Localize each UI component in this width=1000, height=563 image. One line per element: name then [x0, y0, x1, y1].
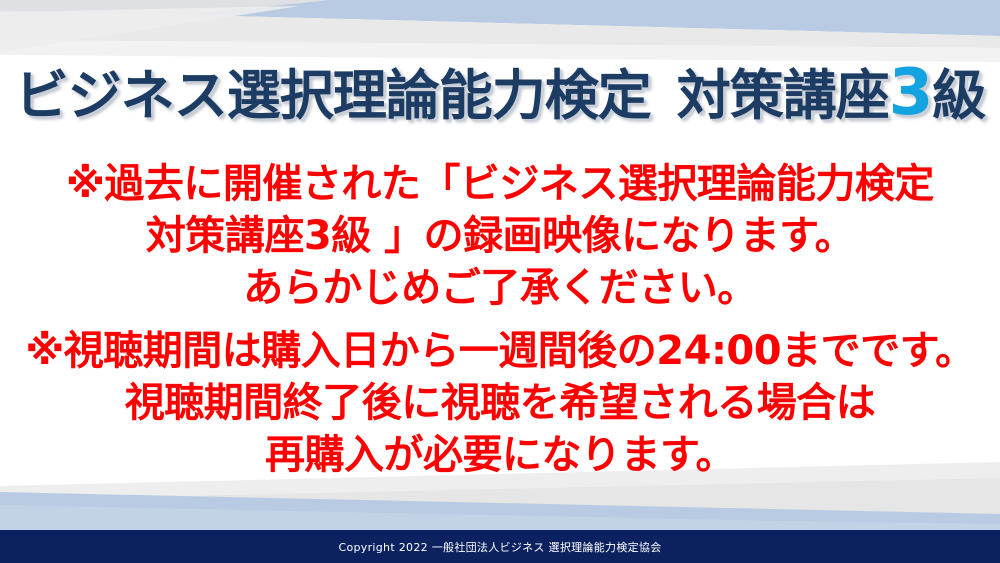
notice-line: 視聴期間終了後に視聴を希望される場合は [0, 377, 1000, 429]
notice-line: ※過去に開催された「ビジネス選択理論能力検定 [0, 158, 1000, 210]
notice-viewing-period-block: ※視聴期間は購入日から一週間後の24:00までです。 視聴期間終了後に視聴を希望… [0, 325, 1000, 481]
notice-line: ※視聴期間は購入日から一週間後の24:00までです。 [0, 325, 1000, 377]
copyright-text: Copyright 2022 一般社団法人ビジネス 選択理論能力検定協会 [338, 539, 661, 555]
title-sub: 対策講座 [677, 64, 889, 127]
slide-canvas: ビジネス選択理論能力検定対策講座3級 ※過去に開催された「ビジネス選択理論能力検… [0, 0, 1000, 563]
bottom-gray-band-2 [0, 478, 1000, 524]
title-grade-number: 3 [889, 56, 933, 130]
top-blue-band [0, 0, 1000, 36]
notice-line: あらかじめご了承ください。 [0, 262, 1000, 314]
top-gray-band-1 [0, 10, 1000, 48]
notice-line: 対策講座3級 」の録画映像になります。 [0, 210, 1000, 262]
top-left-gray-shade-2 [0, 6, 300, 52]
title-grade-suffix: 級 [932, 64, 985, 127]
top-left-gray-shade [0, 0, 330, 34]
bottom-blue-band-2 [0, 505, 1000, 530]
title-container: ビジネス選択理論能力検定対策講座3級 [0, 60, 1000, 127]
notice-line: 再購入が必要になります。 [0, 429, 1000, 481]
top-gray-band-2 [0, 40, 1000, 62]
page-title: ビジネス選択理論能力検定対策講座3級 [15, 60, 986, 127]
title-main: ビジネス選択理論能力検定 [15, 64, 651, 127]
notice-recording-block: ※過去に開催された「ビジネス選択理論能力検定 対策講座3級 」の録画映像になりま… [0, 158, 1000, 314]
bottom-blue-band [0, 492, 1000, 530]
footer-bar: Copyright 2022 一般社団法人ビジネス 選択理論能力検定協会 [0, 530, 1000, 563]
